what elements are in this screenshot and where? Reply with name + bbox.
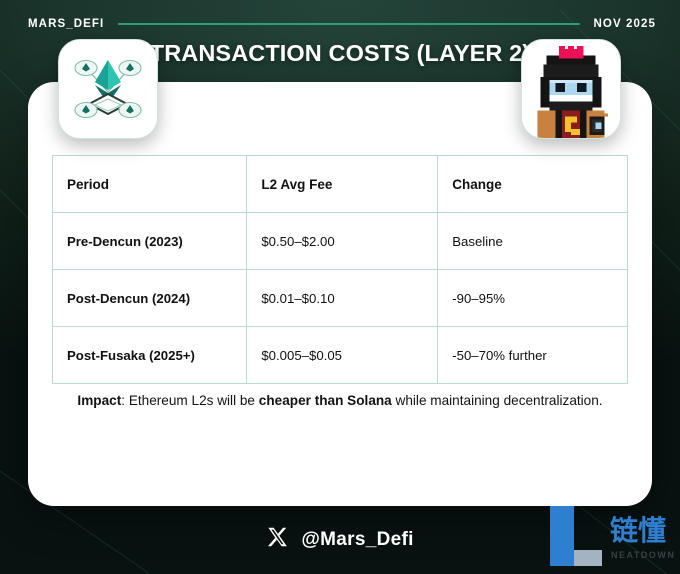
table-row: Pre-Dencun (2023) $0.50–$2.00 Baseline xyxy=(53,213,628,270)
impact-note: Impact: Ethereum L2s will be cheaper tha… xyxy=(62,390,618,412)
date-tag: NOV 2025 xyxy=(594,18,657,30)
cell-period: Post-Dencun (2024) xyxy=(53,270,247,327)
cell-fee: $0.005–$0.05 xyxy=(247,327,438,384)
table-row: Post-Fusaka (2025+) $0.005–$0.05 -50–70%… xyxy=(53,327,628,384)
impact-text-before: Ethereum L2s will be xyxy=(129,393,259,408)
avatar-tile xyxy=(521,39,621,139)
cell-fee: $0.01–$0.10 xyxy=(247,270,438,327)
x-logo-icon[interactable] xyxy=(266,526,290,555)
cell-period: Pre-Dencun (2023) xyxy=(53,213,247,270)
handle-text: @Mars_Defi xyxy=(301,529,413,551)
cell-change: -50–70% further xyxy=(438,327,628,384)
cell-fee: $0.50–$2.00 xyxy=(247,213,438,270)
header-rule xyxy=(118,23,579,25)
social-handle[interactable]: @Mars_Defi xyxy=(266,526,413,555)
column-header-change: Change xyxy=(438,156,628,213)
top-bar: MARS_DEFI NOV 2025 xyxy=(28,14,656,34)
column-header-period: Period xyxy=(53,156,247,213)
watermark: 链懂 NEATDOWN.COM xyxy=(540,500,676,572)
impact-highlight: cheaper than Solana xyxy=(259,393,392,408)
cell-change: -90–95% xyxy=(438,270,628,327)
svg-text:NEATDOWN.COM: NEATDOWN.COM xyxy=(611,550,676,560)
impact-separator: : xyxy=(121,393,129,408)
ethereum-network-tile xyxy=(58,39,158,139)
svg-text:链懂: 链懂 xyxy=(610,514,666,547)
table-row: Post-Dencun (2024) $0.01–$0.10 -90–95% xyxy=(53,270,628,327)
pixel-avatar-icon xyxy=(522,40,620,138)
cell-period: Post-Fusaka (2025+) xyxy=(53,327,247,384)
fees-table-wrap: Period L2 Avg Fee Change Pre-Dencun (202… xyxy=(52,155,628,384)
impact-text-after: while maintaining decentralization. xyxy=(392,393,603,408)
impact-label: Impact xyxy=(77,393,121,408)
table-header-row: Period L2 Avg Fee Change xyxy=(53,156,628,213)
cell-change: Baseline xyxy=(438,213,628,270)
ethereum-network-icon xyxy=(71,52,145,126)
fees-table: Period L2 Avg Fee Change Pre-Dencun (202… xyxy=(52,155,628,384)
column-header-fee: L2 Avg Fee xyxy=(247,156,438,213)
brand-tag: MARS_DEFI xyxy=(28,18,104,30)
